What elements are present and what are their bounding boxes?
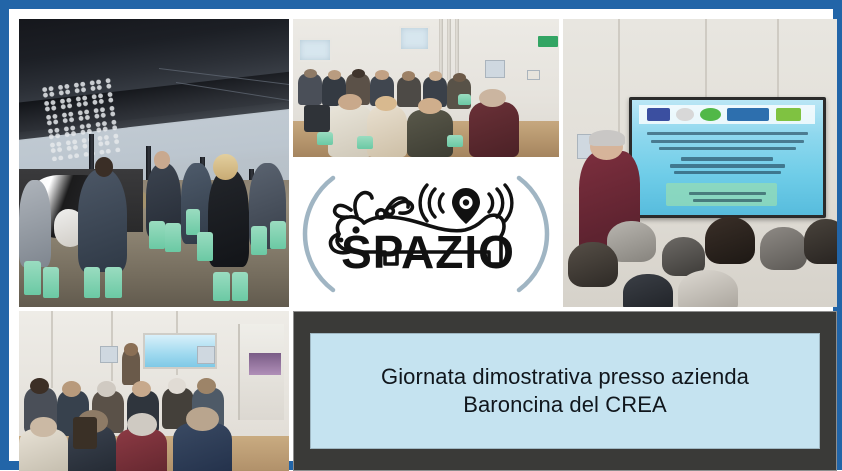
boot-cover: [251, 226, 267, 255]
caption-line-2: Baroncina del CREA: [463, 392, 667, 417]
audience-foreground: [563, 209, 837, 307]
attendee: [407, 110, 452, 157]
presenter-hair: [589, 130, 625, 146]
wall-panel-seam: [51, 311, 53, 388]
slide-text-line: [670, 164, 785, 167]
slide-text-line: [693, 199, 762, 202]
boot-cover: [149, 221, 165, 250]
boot-cover: [232, 272, 248, 301]
boot-cover: [458, 94, 471, 105]
attendee-head: [30, 378, 49, 394]
attendee-head: [186, 407, 218, 431]
wall-panel-seam: [777, 19, 779, 105]
exit-sign-icon: [538, 36, 558, 47]
barn-vent-panel: [41, 78, 121, 162]
poster-mat: SPAZIO: [9, 9, 833, 461]
attendee-head: [328, 70, 341, 80]
attendee-head: [124, 343, 138, 356]
visitor-head: [213, 154, 237, 180]
attendee: [469, 102, 520, 157]
attendee: [367, 107, 407, 157]
lecture-room-photo: [19, 311, 289, 471]
slide-text-line: [651, 140, 804, 143]
classroom-window: [298, 38, 331, 61]
boot-cover: [43, 267, 59, 299]
chair: [304, 105, 331, 133]
wall-monitor: [249, 353, 281, 375]
boot-cover: [213, 272, 229, 301]
attendee-head: [30, 417, 57, 438]
slide-text-line: [659, 147, 797, 150]
boot-cover: [24, 261, 40, 296]
slide-text-line: [689, 192, 766, 195]
caption-panel: Giornata dimostrativa presso azienda Bar…: [310, 333, 819, 450]
slide-logo-row: [639, 105, 815, 123]
wall-control-box: [100, 346, 118, 362]
barn-visit-photo: [19, 19, 289, 307]
caption-line-1: Giornata dimostrativa presso azienda: [381, 364, 749, 389]
boot-cover: [105, 267, 121, 299]
attendee-head: [418, 98, 442, 115]
photo-collage: SPAZIO: [13, 13, 829, 457]
slide-text-line: [681, 157, 773, 160]
attendee-head: [568, 242, 617, 287]
poster-frame: SPAZIO: [0, 0, 842, 470]
psr-logo: [700, 108, 721, 121]
boot-cover: [165, 223, 181, 252]
boot-cover: [357, 136, 373, 148]
wall-control-box: [485, 60, 506, 77]
attendee-head: [804, 219, 837, 264]
classroom-window: [399, 26, 430, 51]
visitor: [78, 169, 127, 273]
wall-panel-seam: [705, 19, 707, 100]
wall-control-box: [197, 346, 215, 364]
boot-cover: [317, 132, 333, 144]
eu-flag-logo: [647, 108, 669, 121]
boot-cover: [84, 267, 100, 299]
projection-screen: [632, 100, 823, 215]
boot-cover: [186, 209, 200, 235]
attendee-head: [375, 70, 388, 80]
republic-logo: [676, 108, 694, 121]
attendee-head: [127, 413, 157, 435]
attendee: [328, 105, 373, 157]
visitor: [208, 169, 249, 267]
logo-wordmark: SPAZIO: [341, 226, 515, 278]
caption-text: Giornata dimostrativa presso azienda Bar…: [371, 363, 759, 419]
region-logo: [776, 108, 802, 121]
wall-pipe: [447, 19, 451, 80]
visitor-head: [154, 151, 170, 168]
boot-cover: [197, 232, 213, 261]
wall-control-box: [527, 70, 540, 80]
attendee-head: [760, 227, 807, 270]
projection-screen-frame: [629, 97, 826, 218]
slide-text-line: [674, 171, 781, 174]
psr-wordmark: [727, 108, 769, 121]
spazio-logo-panel: SPAZIO: [293, 160, 559, 307]
wall-pipe: [439, 19, 443, 77]
classroom-audience-photo: [293, 19, 559, 157]
attendee: [298, 74, 322, 104]
caption-box: Giornata dimostrativa presso azienda Bar…: [293, 311, 837, 471]
boot-cover: [270, 221, 286, 250]
attendee-head: [705, 217, 754, 264]
wall-pipe: [455, 19, 459, 74]
attendee-head: [623, 274, 672, 307]
attendee-head: [338, 94, 362, 111]
attendee-head: [352, 69, 365, 79]
speaker-presentation-photo: [563, 19, 837, 307]
attendee: [397, 77, 421, 107]
attendee-head: [678, 270, 738, 307]
spazio-logo: SPAZIO: [293, 160, 559, 307]
location-pin-icon: [452, 188, 480, 224]
visitor: [19, 180, 51, 266]
attendee-head: [429, 71, 442, 81]
boot-cover: [447, 135, 463, 147]
slide-text-line: [647, 132, 808, 135]
chair: [73, 417, 97, 449]
